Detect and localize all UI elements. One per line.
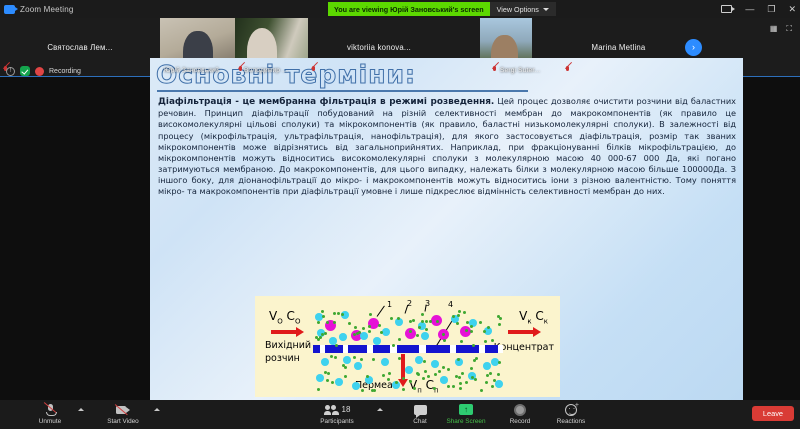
callout-4: 4 — [448, 300, 453, 309]
pin-view-icon[interactable]: ▦ — [770, 24, 778, 33]
solvent-dot — [429, 320, 432, 323]
solvent-dot — [398, 338, 401, 341]
meeting-toolbar: Unmute Start Video 18 Participants Chat … — [0, 400, 800, 429]
participants-count: 18 — [342, 405, 351, 414]
solvent-dot — [461, 372, 464, 375]
view-options-button[interactable]: View Options — [490, 2, 556, 16]
micro-particle — [321, 358, 329, 366]
strip-corner-icons: ▦ ⛶ — [770, 18, 800, 76]
recording-label: Recording — [49, 68, 81, 75]
solvent-dot — [353, 356, 356, 359]
solvent-dot — [480, 389, 483, 392]
info-icon[interactable]: ! — [6, 67, 15, 76]
solvent-dot — [348, 322, 351, 325]
solvent-dot — [424, 370, 427, 373]
micro-particle — [431, 360, 439, 368]
solvent-dot — [341, 313, 344, 316]
solvent-dot — [452, 315, 455, 318]
solvent-dot — [470, 330, 473, 333]
start-video-button[interactable]: Start Video — [95, 403, 151, 425]
solvent-dot — [425, 320, 428, 323]
record-button[interactable]: Record — [492, 403, 548, 425]
solvent-dot — [413, 387, 416, 390]
micro-particle — [354, 362, 362, 370]
solvent-dot — [438, 370, 441, 373]
micro-particle — [382, 328, 390, 336]
inlet-flow-symbol: VO CO — [269, 309, 300, 325]
inlet-label-2: розчин — [265, 353, 300, 364]
solvent-dot — [486, 374, 489, 377]
solvent-dot — [463, 311, 466, 314]
solvent-dot — [474, 378, 477, 381]
muted-mic-icon — [311, 66, 317, 74]
muted-mic-icon — [565, 66, 571, 74]
solvent-dot — [465, 329, 468, 332]
solvent-dot — [485, 381, 488, 384]
solvent-dot — [416, 334, 419, 337]
participant-name: Marina Metlina — [592, 43, 646, 52]
micro-particle — [373, 337, 381, 345]
solvent-dot — [497, 315, 500, 318]
solvent-dot — [331, 381, 334, 384]
micro-particle — [440, 376, 448, 384]
inlet-arrow-icon — [271, 330, 297, 334]
solvent-dot — [390, 317, 393, 320]
micro-particle — [405, 366, 413, 374]
reactions-icon: + — [565, 403, 577, 416]
shared-slide: Основні терміни: Діафільтрація - це мемб… — [150, 58, 743, 400]
solvent-dot — [456, 322, 459, 325]
micro-particle — [415, 356, 423, 364]
solvent-dot — [447, 385, 450, 388]
next-participants-button[interactable]: › — [685, 39, 702, 56]
solvent-dot — [442, 366, 445, 369]
participants-icon: 18 — [324, 403, 351, 416]
solvent-dot — [484, 340, 487, 343]
solvent-dot — [326, 379, 329, 382]
solvent-dot — [362, 327, 365, 330]
solvent-dot — [337, 312, 340, 315]
solvent-dot — [423, 360, 426, 363]
solvent-dot — [327, 372, 330, 375]
solvent-dot — [369, 313, 372, 316]
solvent-dot — [330, 355, 333, 358]
solvent-dot — [395, 381, 398, 384]
reactions-label: Reactions — [557, 418, 585, 425]
share-notice-text: You are viewing Юрій Зановський's screen — [328, 2, 490, 16]
solvent-dot — [493, 379, 496, 382]
solvent-dot — [409, 330, 412, 333]
solvent-dot — [398, 357, 401, 360]
solvent-dot — [388, 372, 391, 375]
solvent-dot — [470, 367, 473, 370]
title-underline — [157, 90, 528, 92]
micro-particle — [343, 356, 351, 364]
chat-label: Chat — [413, 418, 427, 425]
view-options-label: View Options — [497, 5, 539, 14]
muted-mic-icon — [238, 66, 244, 74]
minimize-button[interactable]: — — [745, 5, 754, 14]
solvent-dot — [412, 319, 415, 322]
solvent-dot — [452, 385, 455, 388]
solvent-dot — [470, 325, 473, 328]
window-controls: — ❐ ✕ — [721, 0, 796, 18]
microphone-muted-icon — [45, 403, 56, 416]
solvent-dot — [458, 376, 461, 379]
participants-chevron-icon[interactable] — [377, 408, 383, 411]
video-options-chevron-icon[interactable] — [154, 408, 160, 411]
solvent-dot — [460, 340, 463, 343]
shield-check-icon[interactable] — [20, 66, 30, 76]
callout-line-1 — [377, 306, 385, 317]
micro-particle — [360, 332, 368, 340]
solvent-dot — [459, 382, 462, 385]
participant-name: Святослав Лем... — [47, 43, 112, 52]
solvent-dot — [497, 373, 500, 376]
callout-line-3 — [425, 305, 427, 312]
solvent-dot — [447, 368, 450, 371]
solvent-dot — [378, 324, 381, 327]
zoom-meeting-window: Zoom Meeting You are viewing Юрій Зановс… — [0, 0, 800, 429]
participants-button[interactable]: 18 Participants — [305, 403, 369, 425]
camera-toggle-icon[interactable] — [721, 5, 732, 13]
solvent-dot — [418, 326, 421, 329]
solvent-dot — [354, 326, 357, 329]
audio-options-chevron-icon[interactable] — [78, 408, 84, 411]
restore-button[interactable]: ❐ — [767, 5, 775, 14]
solvent-dot — [487, 326, 490, 329]
solvent-dot — [321, 310, 324, 313]
solvent-dot — [425, 328, 428, 331]
solvent-dot — [402, 388, 405, 391]
solvent-dot — [458, 310, 461, 313]
fullscreen-icon[interactable]: ⛶ — [786, 24, 792, 34]
solvent-dot — [491, 385, 494, 388]
solvent-dot — [344, 375, 347, 378]
solvent-dot — [489, 372, 492, 375]
outlet-arrow-icon — [508, 330, 534, 334]
inlet-label-1: Вихідний — [265, 340, 311, 351]
solvent-dot — [457, 314, 460, 317]
micro-particle — [483, 362, 491, 370]
record-dot-icon[interactable] — [35, 67, 44, 76]
solvent-dot — [373, 389, 376, 392]
solvent-dot — [382, 374, 385, 377]
chevron-down-icon — [543, 8, 549, 11]
participant-name: Володимир ... — [244, 67, 288, 74]
record-label: Record — [510, 418, 531, 425]
solvent-dot — [421, 320, 424, 323]
solvent-dot — [498, 323, 501, 326]
chat-bubble-icon — [414, 403, 427, 416]
solvent-dot — [459, 387, 462, 390]
slide-body-text: Цей процес дозволяє очистити розчини від… — [158, 96, 736, 196]
share-screen-button[interactable]: ↑ Share Screen — [438, 403, 494, 425]
slide-body: Діафільтрація - це мембранна фільтрація … — [158, 96, 736, 197]
record-icon — [514, 403, 526, 416]
reactions-button[interactable]: + Reactions — [543, 403, 599, 425]
screen-share-notice-bar: You are viewing Юрій Зановський's screen… — [328, 2, 556, 16]
solvent-dot — [333, 312, 336, 315]
participant-name: viktoriia konova... — [347, 43, 411, 52]
unmute-label: Unmute — [39, 418, 61, 425]
recording-indicator: ! Recording — [0, 64, 150, 78]
participant-name: Sergi Suter... — [500, 67, 540, 74]
solvent-dot — [427, 375, 430, 378]
callout-1: 1 — [387, 300, 392, 309]
micro-particle — [381, 358, 389, 366]
share-screen-icon: ↑ — [459, 403, 473, 416]
camera-muted-icon — [116, 403, 130, 416]
solvent-dot — [498, 361, 501, 364]
muted-mic-icon — [492, 66, 498, 74]
micro-particle — [335, 378, 343, 386]
solvent-dot — [317, 321, 320, 324]
solvent-dot — [361, 389, 364, 392]
callout-line-2 — [405, 305, 409, 314]
solvent-dot — [319, 336, 322, 339]
solvent-dot — [368, 330, 371, 333]
solvent-dot — [372, 358, 375, 361]
solvent-dot — [322, 315, 325, 318]
solvent-dot — [421, 313, 424, 316]
solvent-dot — [443, 339, 446, 342]
slide-title: Основні терміни: — [156, 62, 743, 88]
micro-particle — [495, 380, 503, 388]
close-button[interactable]: ✕ — [788, 5, 796, 14]
micro-particle — [339, 333, 347, 341]
solvent-dot — [360, 358, 363, 361]
participants-label: Participants — [320, 418, 353, 425]
leave-button[interactable]: Leave — [752, 406, 794, 421]
solvent-dot — [491, 339, 494, 342]
solvent-dot — [457, 358, 460, 361]
solvent-dot — [317, 388, 320, 391]
app-title: Zoom Meeting — [20, 5, 74, 14]
start-video-label: Start Video — [107, 418, 139, 425]
solvent-dot — [335, 344, 338, 347]
solvent-dot — [479, 321, 482, 324]
unmute-button[interactable]: Unmute — [22, 403, 78, 425]
micro-particle — [421, 332, 429, 340]
solvent-dot — [465, 381, 468, 384]
micro-particle — [316, 374, 324, 382]
solvent-dot — [434, 373, 437, 376]
outlet-flow-symbol: Vк Cк — [519, 309, 548, 325]
solvent-dot — [326, 321, 329, 324]
solvent-dot — [334, 356, 337, 359]
solvent-dot — [473, 359, 476, 362]
micro-particle — [352, 382, 360, 390]
diafiltration-diagram: VO CO Вихідний розчин Vк Cк Концентрат П… — [255, 296, 560, 397]
zoom-camera-icon — [4, 5, 15, 14]
share-screen-label: Share Screen — [446, 418, 485, 425]
permeate-arrow-icon — [401, 354, 405, 380]
slide-lead-sentence: Діафільтрація - це мембранна фільтрація … — [158, 97, 494, 107]
participant-name: Юрій Зановський — [164, 67, 219, 74]
solvent-dot — [472, 344, 475, 347]
